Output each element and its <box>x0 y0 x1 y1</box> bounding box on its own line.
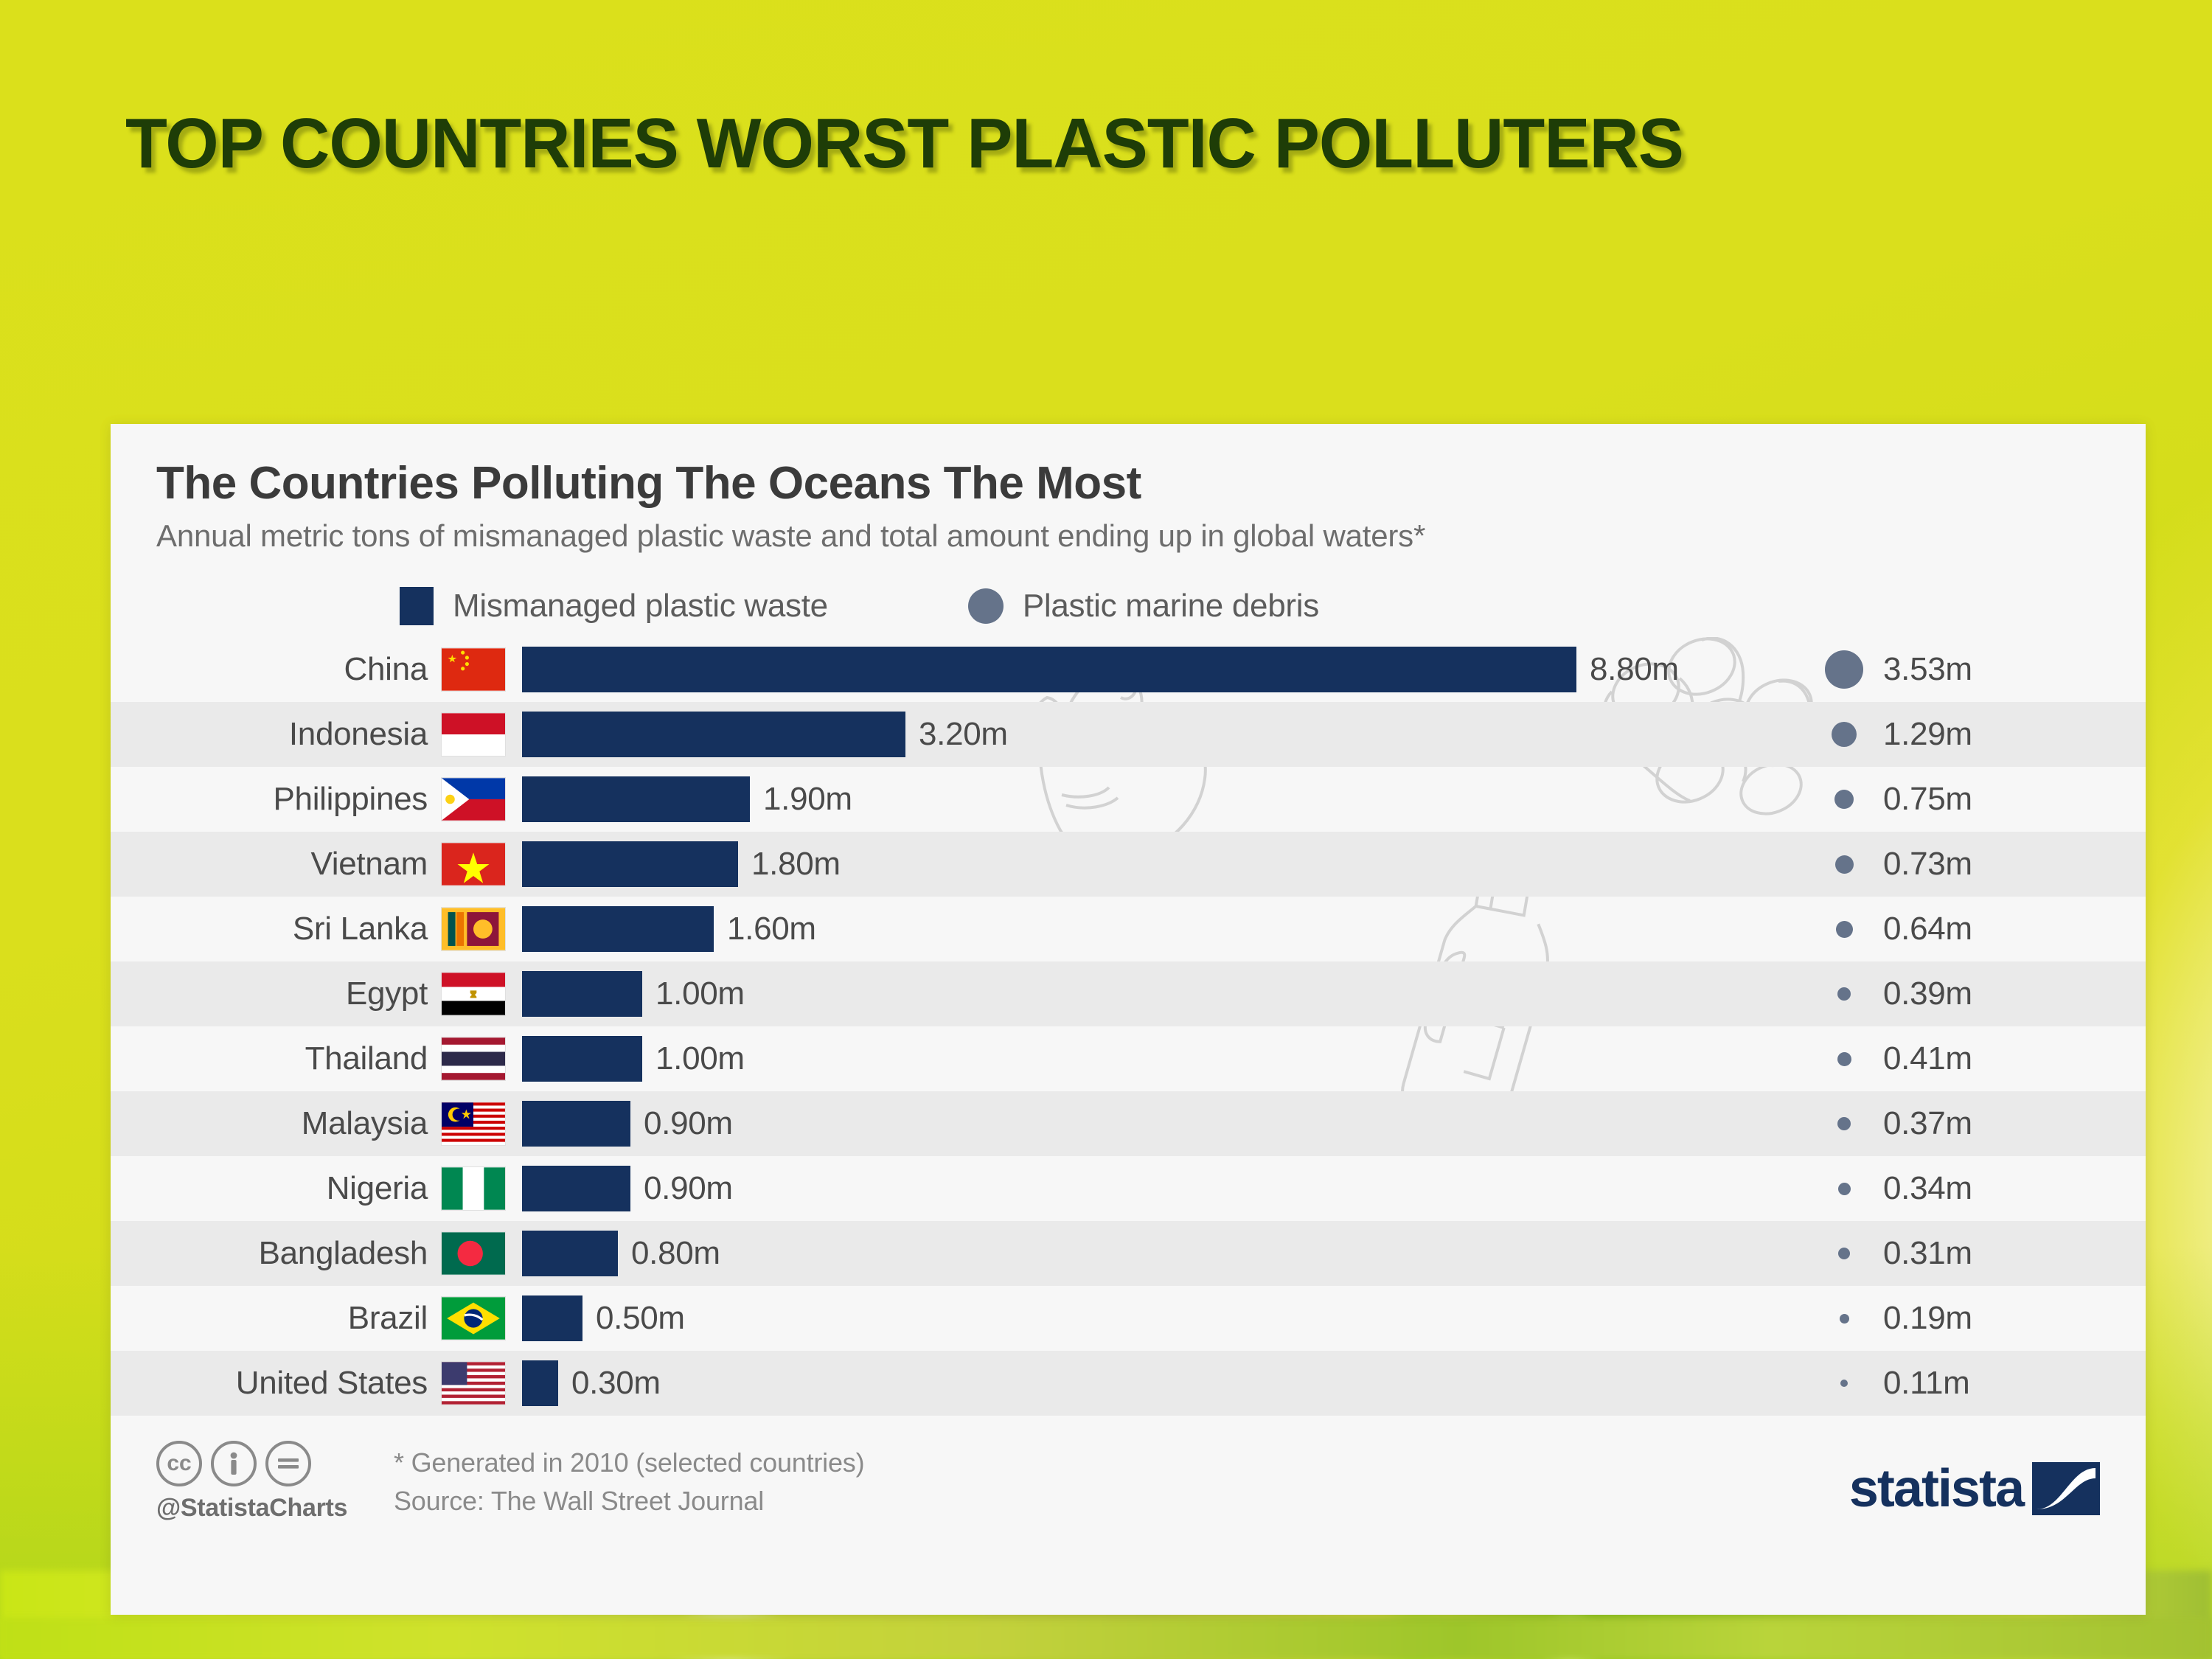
bar-value-label: 3.20m <box>919 716 1008 753</box>
bar-value-label: 1.00m <box>655 975 745 1012</box>
bottom-plant-photo-blur <box>0 1618 2212 1659</box>
debris-dot-icon <box>1835 855 1854 874</box>
bar-mismanaged-waste <box>522 1036 642 1082</box>
footer-notes: * Generated in 2010 (selected countries)… <box>378 1441 1849 1520</box>
chart-subtitle: Annual metric tons of mismanaged plastic… <box>156 519 2100 553</box>
bar-cell: 0.30m <box>522 1360 1799 1406</box>
debris-value-label: 0.34m <box>1883 1170 1972 1207</box>
debris-dot-icon <box>1837 987 1851 1001</box>
debris-cell: 0.73m <box>1799 846 2146 883</box>
flag-icon-eg <box>441 972 506 1016</box>
debris-cell: 1.29m <box>1799 716 2146 753</box>
debris-dot-wrapper <box>1820 1183 1868 1195</box>
bar-mismanaged-waste <box>522 906 714 952</box>
table-row[interactable]: Egypt 1.00m 0.39m <box>111 961 2146 1026</box>
debris-value-label: 3.53m <box>1883 651 1972 688</box>
debris-cell: 0.19m <box>1799 1300 2146 1337</box>
debris-cell: 0.41m <box>1799 1040 2146 1077</box>
cc-nd-icon <box>265 1441 311 1486</box>
statista-chart-card: The Countries Polluting The Oceans The M… <box>111 424 2146 1615</box>
bar-value-label: 0.50m <box>596 1300 685 1337</box>
creative-commons-icons: cc <box>156 1441 378 1486</box>
country-label: Indonesia <box>111 716 441 753</box>
table-row[interactable]: Bangladesh 0.80m 0.31m <box>111 1221 2146 1286</box>
debris-cell: 0.31m <box>1799 1235 2146 1272</box>
debris-dot-icon <box>1834 790 1854 809</box>
bar-value-label: 1.60m <box>727 911 816 947</box>
statista-logo: statista <box>1849 1441 2100 1519</box>
debris-dot-icon <box>1836 921 1853 938</box>
debris-dot-icon <box>1840 1380 1848 1387</box>
statista-wordmark: statista <box>1849 1458 2023 1519</box>
debris-value-label: 0.19m <box>1883 1300 1972 1337</box>
flag-icon-ng <box>441 1166 506 1211</box>
table-row[interactable]: Malaysia 0.90m 0.37m <box>111 1091 2146 1156</box>
creative-commons-block: cc @StatistaCharts <box>156 1441 378 1523</box>
bar-mismanaged-waste <box>522 1360 558 1406</box>
bar-value-label: 0.80m <box>631 1235 720 1272</box>
chart-header: The Countries Polluting The Oceans The M… <box>111 424 2146 625</box>
bar-mismanaged-waste <box>522 1101 630 1147</box>
debris-cell: 0.39m <box>1799 975 2146 1012</box>
table-row[interactable]: Sri Lanka 1.60m 0.64m <box>111 897 2146 961</box>
debris-cell: 0.75m <box>1799 781 2146 818</box>
bar-value-label: 0.90m <box>644 1170 733 1207</box>
bar-mismanaged-waste <box>522 1231 618 1276</box>
legend-item-mismanaged-plastic-waste: Mismanaged plastic waste <box>400 587 828 625</box>
bar-cell: 0.80m <box>522 1231 1799 1276</box>
bar-mismanaged-waste <box>522 971 642 1017</box>
legend-item-plastic-marine-debris: Plastic marine debris <box>968 588 1319 625</box>
table-row[interactable]: United States 0.30m 0.11m <box>111 1351 2146 1416</box>
legend-dot-swatch-icon <box>968 588 1004 624</box>
table-row[interactable]: Thailand 1.00m 0.41m <box>111 1026 2146 1091</box>
bar-value-label: 0.90m <box>644 1105 733 1142</box>
bar-mismanaged-waste <box>522 712 905 757</box>
bar-value-label: 1.90m <box>763 781 852 818</box>
table-row[interactable]: Philippines 1.90m 0.75m <box>111 767 2146 832</box>
flag-icon-my <box>441 1102 506 1146</box>
debris-cell: 0.37m <box>1799 1105 2146 1142</box>
debris-value-label: 0.37m <box>1883 1105 1972 1142</box>
table-row[interactable]: Indonesia 3.20m 1.29m <box>111 702 2146 767</box>
bar-value-label: 1.80m <box>751 846 841 883</box>
flag-icon-vn <box>441 842 506 886</box>
bar-mismanaged-waste <box>522 1166 630 1211</box>
cc-by-icon <box>211 1441 257 1486</box>
debris-dot-wrapper <box>1820 1380 1868 1387</box>
bar-mismanaged-waste <box>522 1295 582 1341</box>
flag-icon-th <box>441 1037 506 1081</box>
debris-value-label: 0.64m <box>1883 911 1972 947</box>
debris-cell: 0.11m <box>1799 1365 2146 1402</box>
debris-dot-wrapper <box>1820 722 1868 747</box>
debris-cell: 0.64m <box>1799 911 2146 947</box>
bar-cell: 1.00m <box>522 971 1799 1017</box>
bar-cell: 8.80m <box>522 647 1799 692</box>
debris-dot-icon <box>1832 722 1857 747</box>
country-label: Brazil <box>111 1300 441 1337</box>
flag-icon-us <box>441 1361 506 1405</box>
bar-mismanaged-waste <box>522 776 750 822</box>
debris-value-label: 0.11m <box>1883 1365 1970 1402</box>
debris-value-label: 0.75m <box>1883 781 1972 818</box>
debris-dot-wrapper <box>1820 1314 1868 1324</box>
statista-mark-icon <box>2032 1462 2100 1515</box>
debris-value-label: 0.73m <box>1883 846 1972 883</box>
bar-value-label: 0.30m <box>571 1365 661 1402</box>
country-label: Bangladesh <box>111 1235 441 1272</box>
debris-dot-wrapper <box>1820 987 1868 1001</box>
debris-dot-icon <box>1838 1248 1850 1259</box>
flag-icon-br <box>441 1296 506 1340</box>
country-label: Malaysia <box>111 1105 441 1142</box>
flag-icon-bd <box>441 1231 506 1276</box>
country-label: Thailand <box>111 1040 441 1077</box>
country-label: Egypt <box>111 975 441 1012</box>
debris-value-label: 0.39m <box>1883 975 1972 1012</box>
country-label: United States <box>111 1365 441 1402</box>
debris-value-label: 0.41m <box>1883 1040 1972 1077</box>
debris-dot-icon <box>1838 1183 1851 1195</box>
chart-legend: Mismanaged plastic waste Plastic marine … <box>400 587 2100 625</box>
footer-source: Source: The Wall Street Journal <box>394 1482 1849 1520</box>
bar-value-label: 8.80m <box>1590 651 1679 688</box>
footer-note-generated: * Generated in 2010 (selected countries) <box>394 1444 1849 1482</box>
country-label: China <box>111 651 441 688</box>
country-label: Sri Lanka <box>111 911 441 947</box>
table-row[interactable]: Nigeria 0.90m 0.34m <box>111 1156 2146 1221</box>
debris-dot-icon <box>1840 1314 1849 1324</box>
page-title: TOP COUNTRIES WORST PLASTIC POLLUTERS <box>125 103 2056 184</box>
flag-icon-cn <box>441 647 506 692</box>
bar-mismanaged-waste <box>522 647 1576 692</box>
chart-footer: cc @StatistaCharts * Generated in 2010 (… <box>111 1416 2146 1523</box>
debris-dot-wrapper <box>1820 650 1868 689</box>
debris-dot-wrapper <box>1820 855 1868 874</box>
bar-cell: 3.20m <box>522 712 1799 757</box>
legend-label-mismanaged-plastic-waste: Mismanaged plastic waste <box>453 588 828 625</box>
bar-cell: 1.00m <box>522 1036 1799 1082</box>
flag-icon-lk <box>441 907 506 951</box>
debris-value-label: 1.29m <box>1883 716 1972 753</box>
table-row[interactable]: Brazil 0.50m 0.19m <box>111 1286 2146 1351</box>
bar-mismanaged-waste <box>522 841 738 887</box>
debris-dot-wrapper <box>1820 790 1868 809</box>
debris-cell: 0.34m <box>1799 1170 2146 1207</box>
table-row[interactable]: Vietnam 1.80m 0.73m <box>111 832 2146 897</box>
bar-cell: 1.60m <box>522 906 1799 952</box>
debris-dot-icon <box>1837 1117 1851 1130</box>
bar-cell: 1.80m <box>522 841 1799 887</box>
flag-icon-ph <box>441 777 506 821</box>
debris-cell: 3.53m <box>1799 650 2146 689</box>
country-label: Philippines <box>111 781 441 818</box>
debris-dot-wrapper <box>1820 1117 1868 1130</box>
bar-value-label: 1.00m <box>655 1040 745 1077</box>
debris-dot-icon <box>1837 1052 1851 1066</box>
cc-icon: cc <box>156 1441 202 1486</box>
bar-cell: 0.50m <box>522 1295 1799 1341</box>
chart-rows: China 8.80m 3.53m Indonesia 3.20m <box>111 637 2146 1416</box>
bar-cell: 1.90m <box>522 776 1799 822</box>
debris-dot-wrapper <box>1820 1248 1868 1259</box>
debris-dot-wrapper <box>1820 1052 1868 1066</box>
bar-cell: 0.90m <box>522 1101 1799 1147</box>
chart-title: The Countries Polluting The Oceans The M… <box>156 459 2100 507</box>
country-label: Vietnam <box>111 846 441 883</box>
debris-dot-wrapper <box>1820 921 1868 938</box>
statista-handle: @StatistaCharts <box>156 1494 378 1523</box>
table-row[interactable]: China 8.80m 3.53m <box>111 637 2146 702</box>
legend-bar-swatch-icon <box>400 587 434 625</box>
bar-cell: 0.90m <box>522 1166 1799 1211</box>
legend-label-plastic-marine-debris: Plastic marine debris <box>1023 588 1319 625</box>
country-label: Nigeria <box>111 1170 441 1207</box>
debris-dot-icon <box>1825 650 1863 689</box>
flag-icon-id <box>441 712 506 757</box>
debris-value-label: 0.31m <box>1883 1235 1972 1272</box>
